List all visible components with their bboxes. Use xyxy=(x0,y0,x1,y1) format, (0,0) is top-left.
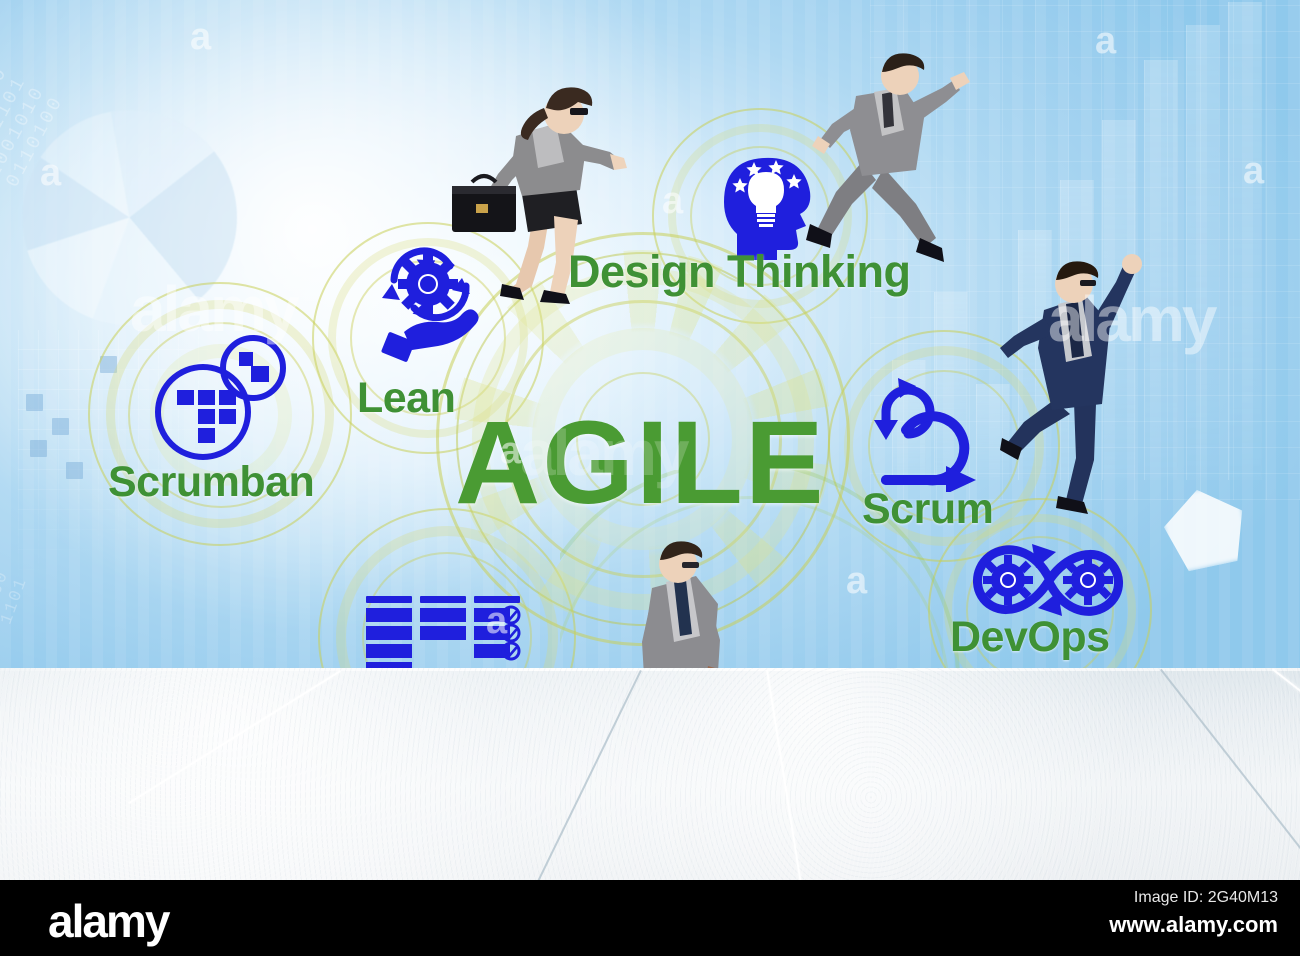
alamy-url-text: www.alamy.com xyxy=(1109,912,1278,938)
alamy-footer-bar: alamy Image ID: 2G40M13 www.alamy.com xyxy=(0,880,1300,956)
sprint-arrow-icon xyxy=(858,372,988,492)
decor-square xyxy=(100,356,117,373)
decor-square xyxy=(52,418,69,435)
label-scrumban: Scrumban xyxy=(108,458,314,507)
scene-background: 0100110 1010010 0101101 1001010 0110100 … xyxy=(0,0,1300,880)
scrumban-board-icon xyxy=(150,330,286,462)
person-man-jumping-navy xyxy=(1000,252,1170,520)
decor-square xyxy=(30,440,47,457)
screenshot-root: 0100110 1010010 0101101 1001010 0110100 … xyxy=(0,0,1300,956)
decor-square xyxy=(26,394,43,411)
agile-headline: AGILE xyxy=(455,404,826,522)
alamy-logo: alamy xyxy=(48,894,168,948)
floor-texture xyxy=(0,668,1300,880)
label-design-thinking: Design Thinking xyxy=(568,246,911,298)
image-id-text: Image ID: 2G40M13 xyxy=(1134,889,1278,907)
head-lightbulb-icon xyxy=(714,150,818,260)
label-lean: Lean xyxy=(357,374,455,423)
label-devops: DevOps xyxy=(950,613,1110,662)
floor-surface xyxy=(0,668,1300,880)
person-man-running-grey xyxy=(800,52,980,272)
gear-in-hand-icon xyxy=(370,240,490,370)
label-scrum: Scrum xyxy=(862,485,993,534)
decor-square xyxy=(66,462,83,479)
